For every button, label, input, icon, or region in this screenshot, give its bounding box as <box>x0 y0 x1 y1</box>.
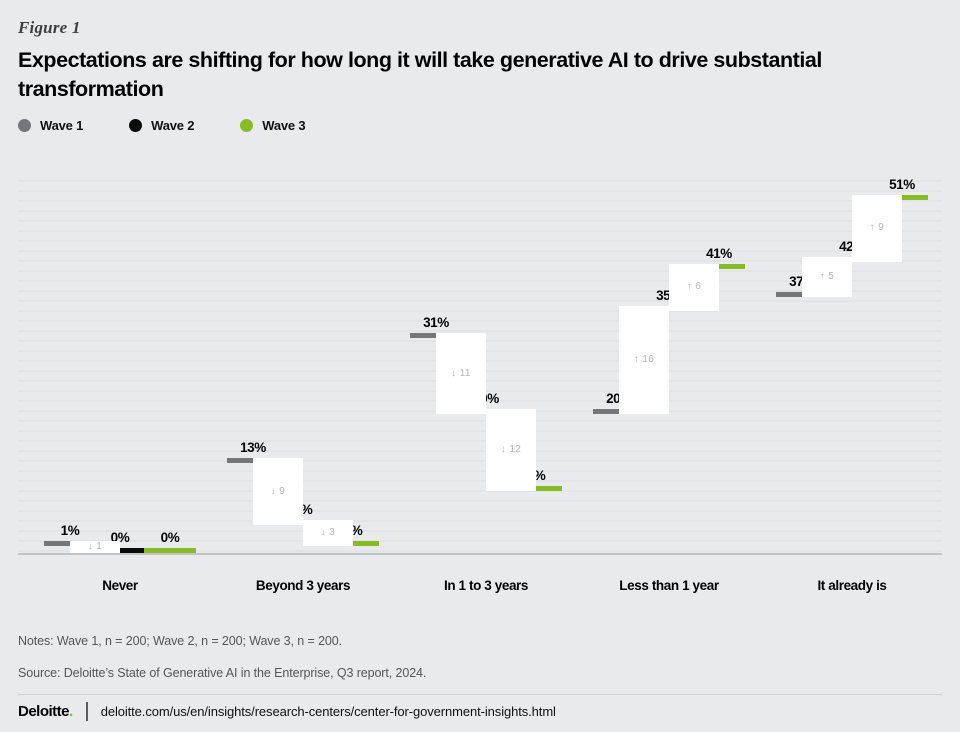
waterfall-connector: ↓ 3 <box>303 520 353 546</box>
waterfall-connector: ↓ 1 <box>70 541 120 553</box>
delta-label: ↑ 16 <box>619 354 669 365</box>
delta-label: ↑ 5 <box>802 271 852 282</box>
waterfall-connector: ↓ 12 <box>486 409 536 490</box>
waterfall-connector: ↓ 9 <box>253 458 303 525</box>
circle-marker-icon <box>240 119 253 132</box>
chart-source: Source: Deloitte’s State of Generative A… <box>18 666 426 680</box>
legend-item-wave-1[interactable]: Wave 1 <box>18 118 83 133</box>
waterfall-connector: ↑ 6 <box>669 264 719 311</box>
legend-item-wave-2[interactable]: Wave 2 <box>129 118 194 133</box>
chart-legend: Wave 1Wave 2Wave 3 <box>18 118 351 133</box>
delta-label: ↑ 9 <box>852 222 902 233</box>
bar-value-label: 41% <box>683 246 755 261</box>
figure-label: Figure 1 <box>18 18 81 38</box>
legend-item-wave-3[interactable]: Wave 3 <box>240 118 305 133</box>
legend-label: Wave 3 <box>262 118 305 133</box>
waterfall-connector: ↓ 11 <box>436 333 486 414</box>
brand-url[interactable]: deloitte.com/us/en/insights/research-cen… <box>101 704 556 719</box>
brand-footer: Deloitte. deloitte.com/us/en/insights/re… <box>18 702 556 721</box>
category-label: It already is <box>741 578 960 593</box>
delta-label: ↓ 1 <box>70 541 120 552</box>
bar-value-label: 51% <box>866 177 938 192</box>
circle-marker-icon <box>18 119 31 132</box>
legend-label: Wave 2 <box>151 118 194 133</box>
chart-notes: Notes: Wave 1, n = 200; Wave 2, n = 200;… <box>18 634 342 648</box>
page-title: Expectations are shifting for how long i… <box>18 46 878 104</box>
circle-marker-icon <box>129 119 142 132</box>
bar-value-label: 0% <box>134 530 206 545</box>
legend-label: Wave 1 <box>40 118 83 133</box>
brand-divider <box>86 702 88 721</box>
x-axis-line <box>18 553 942 555</box>
delta-label: ↓ 12 <box>486 444 536 455</box>
bar-wave-3[interactable] <box>144 548 196 553</box>
waterfall-connector: ↑ 16 <box>619 306 669 415</box>
figure-page: Figure 1 Expectations are shifting for h… <box>0 0 960 732</box>
delta-label: ↓ 3 <box>303 527 353 538</box>
bar-value-label: 31% <box>400 315 472 330</box>
waterfall-connector: ↑ 5 <box>802 257 852 297</box>
footer-divider <box>18 694 942 695</box>
brand-accent-dot: . <box>69 703 73 720</box>
bar-value-label: 13% <box>217 440 289 455</box>
delta-label: ↓ 11 <box>436 368 486 379</box>
delta-label: ↓ 9 <box>253 486 303 497</box>
brand-name: Deloitte <box>18 703 69 720</box>
delta-label: ↑ 6 <box>669 281 719 292</box>
waterfall-connector: ↑ 9 <box>852 195 902 262</box>
